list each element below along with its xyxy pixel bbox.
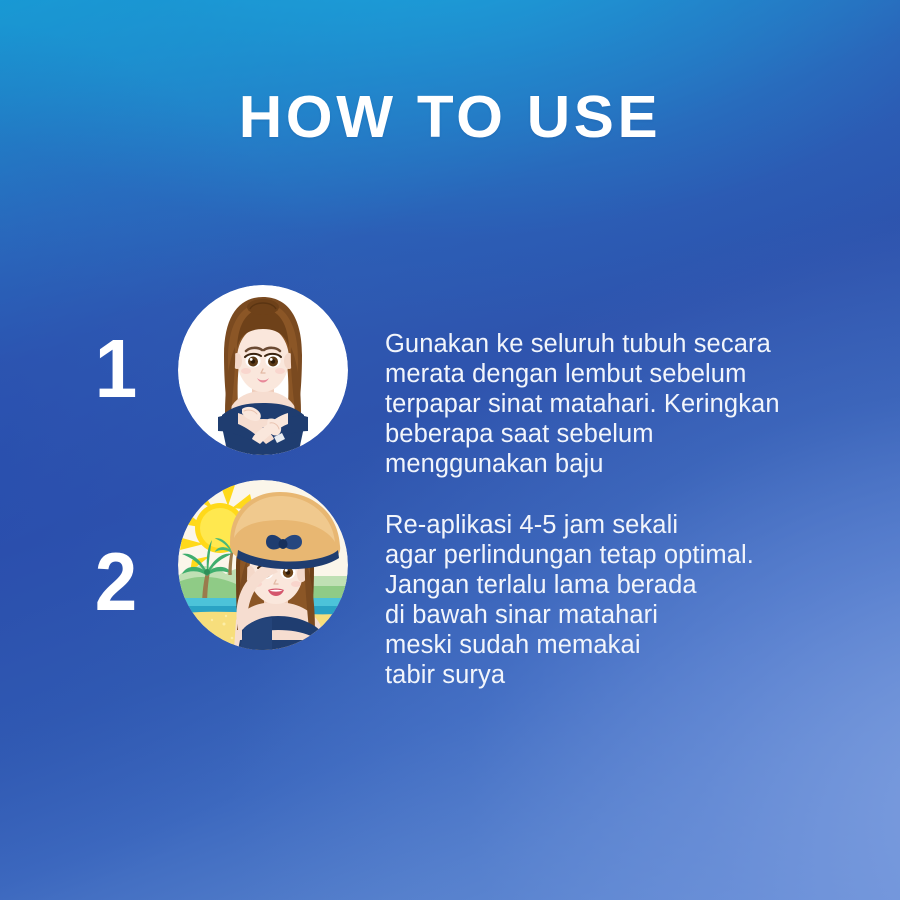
step-number-2: 2 — [72, 540, 160, 623]
step-number-1: 1 — [72, 327, 160, 410]
woman-at-beach-with-hat-illustration — [178, 480, 348, 650]
step-description-2: Re-aplikasi 4-5 jam sekali agar perlindu… — [385, 510, 875, 690]
woman-applying-sunscreen-illustration — [178, 285, 348, 455]
page-title: HOW TO USE — [0, 88, 900, 147]
step-description-1: Gunakan ke seluruh tubuh secara merata d… — [385, 329, 875, 479]
how-to-use-poster: HOW TO USE 1 — [0, 0, 900, 900]
